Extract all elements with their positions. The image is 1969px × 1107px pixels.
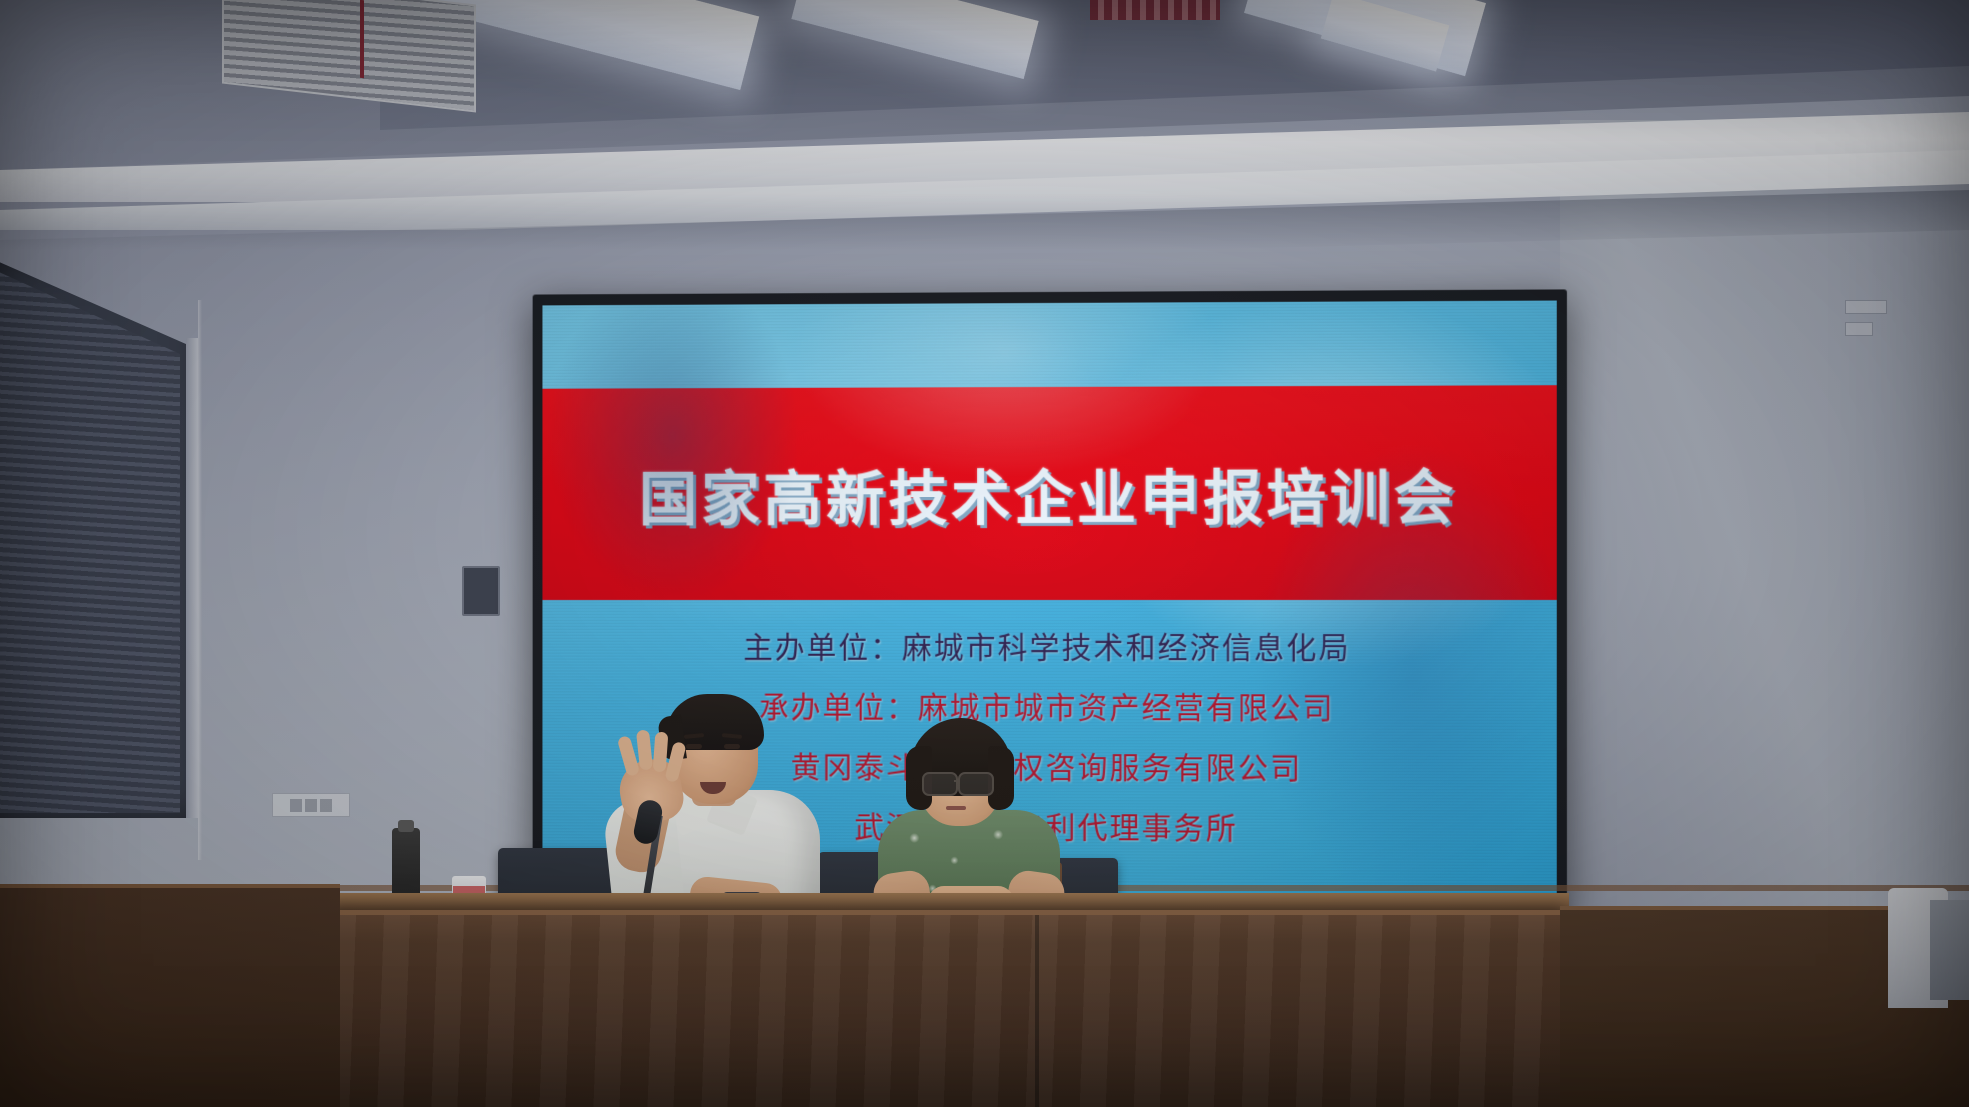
wall-socket-secondary <box>1845 322 1873 336</box>
slide-title-band: 国家高新技术企业申报培训会 <box>542 385 1556 600</box>
thermos-cap[interactable] <box>398 820 414 832</box>
slide-line-host-2: 黄冈泰斗知识产权咨询服务有限公司 <box>791 742 1303 787</box>
sprinkler-fitting <box>1090 0 1220 20</box>
eyeglasses-lens-left <box>922 772 958 796</box>
eyeglasses-bridge <box>954 780 960 782</box>
table-left-section <box>0 884 340 1107</box>
switch-rocker[interactable] <box>290 799 302 812</box>
switch-rocker[interactable] <box>305 799 317 812</box>
light-switch-plate[interactable] <box>272 793 350 817</box>
blinds-edge-trim <box>186 338 198 818</box>
wall-corner-highlight <box>198 300 202 860</box>
attendee-mouth <box>946 806 966 810</box>
speaker-finger <box>653 732 669 773</box>
right-wall <box>1560 120 1969 940</box>
speaker-eye-left <box>686 744 702 749</box>
table-panel-seam <box>1035 915 1039 1107</box>
speaker-eye-right <box>724 744 740 749</box>
switch-rocker[interactable] <box>320 799 332 812</box>
eyeglasses-lens-right <box>958 772 994 796</box>
slide-line-host-1: 承办单位：麻城市城市资产经营有限公司 <box>759 683 1335 728</box>
vent-pull-cord <box>360 0 364 78</box>
paper-cup-band <box>453 886 485 893</box>
foreground-chair-back[interactable] <box>1930 900 1969 1000</box>
slide-line-organizer: 主办单位：麻城市科学技术和经济信息化局 <box>743 623 1351 667</box>
conference-table <box>330 910 1565 1107</box>
photo-scene: 国家高新技术企业申报培训会 主办单位：麻城市科学技术和经济信息化局 承办单位：麻… <box>0 0 1969 1107</box>
window-blinds[interactable] <box>0 268 188 813</box>
wall-mounted-box <box>462 566 500 616</box>
wall-socket <box>1845 300 1887 314</box>
slide-title: 国家高新技术企业申报培训会 <box>639 450 1457 536</box>
